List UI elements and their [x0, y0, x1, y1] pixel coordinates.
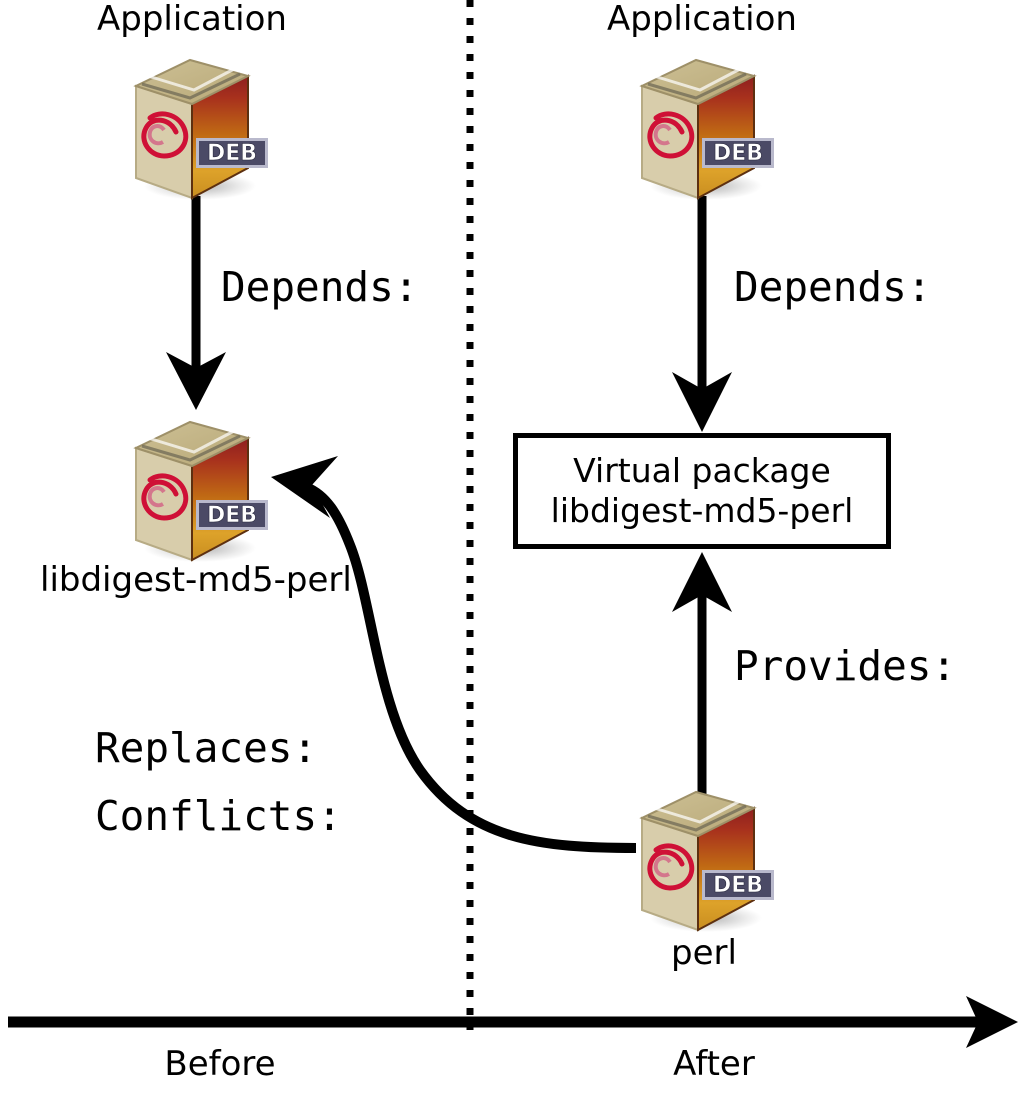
virtual-package-line1: Virtual package	[573, 451, 831, 491]
timeline-arrow	[8, 996, 1018, 1048]
label-application-before: Application	[42, 2, 342, 38]
virtual-package-box: Virtual package libdigest-md5-perl	[513, 433, 891, 549]
package-icon-application-before: DEB	[118, 46, 278, 206]
label-provides: Provides:	[734, 645, 956, 688]
label-timeline-before: Before	[100, 1047, 340, 1083]
label-depends-before: Depends:	[221, 266, 418, 309]
provides-arrow	[672, 552, 732, 800]
svg-text:DEB: DEB	[207, 141, 257, 166]
label-package-perl: perl	[604, 936, 804, 972]
label-replaces: Replaces:	[95, 727, 317, 770]
debian-virtual-package-diagram: DEB DEB	[0, 0, 1024, 1094]
svg-text:DEB: DEB	[713, 141, 763, 166]
label-timeline-after: After	[594, 1047, 834, 1083]
package-icon-application-after: DEB	[624, 46, 784, 206]
svg-text:DEB: DEB	[713, 873, 763, 898]
depends-arrow-before	[166, 196, 226, 410]
package-icon-perl: DEB	[624, 778, 784, 938]
label-depends-after: Depends:	[734, 266, 931, 309]
label-application-after: Application	[552, 2, 852, 38]
label-package-libdigest-md5-perl: libdigest-md5-perl	[40, 563, 340, 599]
svg-text:DEB: DEB	[207, 503, 257, 528]
package-icon-libdigest-md5-perl: DEB	[118, 408, 278, 568]
depends-arrow-after	[672, 196, 732, 432]
virtual-package-line2: libdigest-md5-perl	[551, 491, 854, 531]
label-conflicts: Conflicts:	[95, 795, 342, 838]
